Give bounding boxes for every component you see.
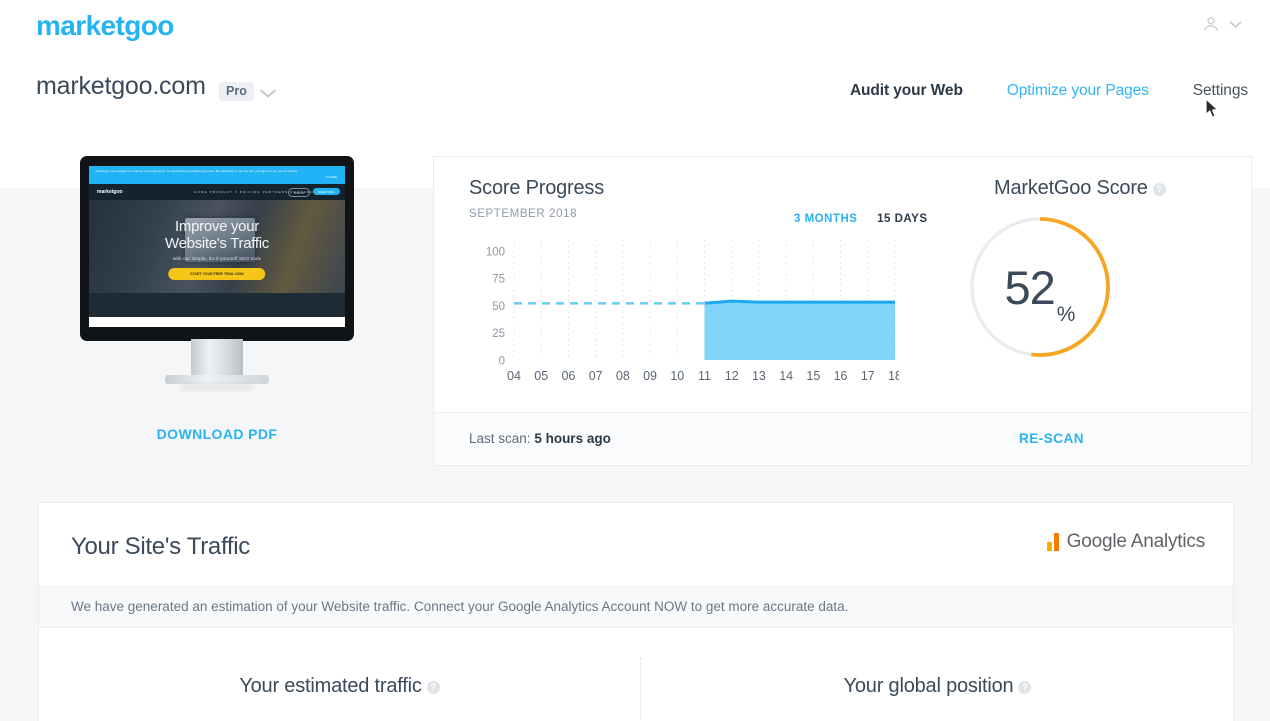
monitor-screen: marketgoo uses cookies to enhance your e…	[89, 166, 345, 327]
svg-text:13: 13	[752, 369, 766, 383]
svg-text:10: 10	[670, 369, 684, 383]
preview-cookie-bar: marketgoo uses cookies to enhance your e…	[89, 166, 345, 184]
preview-logo: marketgoo	[97, 189, 123, 195]
nav-item-optimize-your-pages[interactable]: Optimize your Pages	[1007, 82, 1149, 100]
svg-text:100: 100	[486, 246, 505, 258]
traffic-notice-text: We have generated an estimation of your …	[71, 599, 848, 614]
global-position-label: Your global position	[844, 675, 1014, 697]
mouse-pointer-icon	[1205, 98, 1220, 120]
marketgoo-score-label: MarketGoo Score	[994, 177, 1148, 199]
range-toggle: 3 MONTHS 15 DAYS	[794, 213, 928, 225]
account-menu[interactable]	[1201, 14, 1242, 34]
svg-text:09: 09	[643, 369, 657, 383]
preview-hero-button: START YOUR FREE TRIAL NOW	[168, 268, 265, 280]
last-scan-label: Last scan:	[469, 431, 531, 446]
help-icon[interactable]: ?	[1153, 183, 1166, 196]
ga-word-google: Google	[1067, 531, 1127, 552]
preview-cta: FREE TRIAL	[313, 188, 340, 195]
svg-text:06: 06	[561, 369, 575, 383]
chart-x-axis-labels: 040506070809101112131415161718	[507, 369, 899, 383]
site-traffic-title: Your Site's Traffic	[71, 533, 250, 561]
score-card: Score Progress SEPTEMBER 2018 3 MONTHS 1…	[433, 156, 1252, 466]
monitor-frame: marketgoo uses cookies to enhance your e…	[80, 156, 354, 341]
monitor-stand-neck	[191, 339, 243, 377]
google-analytics-wordmark: Google Analytics	[1067, 531, 1205, 553]
chart-y-axis-labels: 0255075100	[486, 246, 505, 367]
preview-subheadline: with our simple, do-it-yourself SEO tool…	[89, 256, 345, 261]
nav-item-settings[interactable]: Settings	[1193, 82, 1248, 100]
svg-text:18: 18	[888, 369, 899, 383]
google-analytics-bars-icon	[1047, 533, 1059, 551]
range-option-15-days[interactable]: 15 DAYS	[877, 213, 927, 225]
site-preview: marketgoo uses cookies to enhance your e…	[80, 156, 354, 384]
preview-cookie-text: marketgoo uses cookies to enhance your e…	[95, 169, 310, 173]
marketgoo-score-title: MarketGoo Score?	[994, 177, 1166, 200]
ga-word-analytics: Analytics	[1131, 531, 1205, 552]
score-card-footer: Last scan: 5 hours ago RE-SCAN	[434, 412, 1251, 465]
svg-text:75: 75	[492, 274, 505, 286]
top-bar: marketgoo	[0, 0, 1270, 52]
site-switcher-chevron-down-icon[interactable]	[259, 86, 277, 104]
chevron-down-icon	[1229, 20, 1242, 29]
last-scan-value: 5 hours ago	[534, 431, 611, 446]
site-name: marketgoo.com	[36, 72, 206, 101]
monitor-stand-base	[165, 375, 269, 384]
monitor-shadow	[182, 384, 252, 390]
nav-item-audit-your-web[interactable]: Audit your Web	[850, 82, 963, 100]
svg-text:12: 12	[725, 369, 739, 383]
estimated-traffic-title: Your estimated traffic?	[39, 675, 640, 698]
preview-screen-footer	[89, 317, 345, 327]
score-progress-period: SEPTEMBER 2018	[469, 208, 577, 220]
user-icon	[1201, 14, 1221, 34]
svg-text:08: 08	[616, 369, 630, 383]
svg-text:11: 11	[698, 369, 711, 383]
estimated-traffic-label: Your estimated traffic	[239, 675, 421, 697]
help-icon[interactable]: ?	[1018, 681, 1031, 694]
traffic-notice-banner: We have generated an estimation of your …	[39, 586, 1233, 628]
svg-text:14: 14	[779, 369, 793, 383]
svg-text:05: 05	[534, 369, 548, 383]
preview-cookie-accept: I AGREE	[325, 175, 337, 179]
svg-text:07: 07	[589, 369, 603, 383]
svg-text:25: 25	[492, 328, 505, 340]
range-option-3-months[interactable]: 3 MONTHS	[794, 213, 857, 225]
help-icon[interactable]: ?	[427, 681, 440, 694]
preview-headline: Improve your Website's Traffic	[89, 218, 345, 253]
svg-text:16: 16	[834, 369, 848, 383]
brand-logo[interactable]: marketgoo	[36, 10, 174, 42]
preview-headline-line2: Website's Traffic	[165, 235, 269, 252]
preview-hero: Improve your Website's Traffic with our …	[89, 200, 345, 293]
last-scan: Last scan: 5 hours ago	[469, 431, 611, 446]
global-position-title: Your global position?	[640, 675, 1235, 698]
score-card-body: Score Progress SEPTEMBER 2018 3 MONTHS 1…	[434, 157, 1251, 412]
plan-badge: Pro	[219, 82, 254, 101]
download-pdf-button[interactable]: DOWNLOAD PDF	[80, 426, 354, 442]
preview-headline-line1: Improve your	[175, 218, 259, 235]
score-number: 52	[1005, 260, 1055, 315]
svg-text:17: 17	[861, 369, 875, 383]
app-page: marketgoo marketgoo.com Pro Aud	[0, 0, 1270, 721]
chart-area-fill	[705, 301, 896, 360]
marketgoo-score-value: 52 %	[967, 214, 1113, 360]
site-header: marketgoo.com Pro Audit your Web Optimiz…	[0, 62, 1270, 128]
svg-text:0: 0	[499, 356, 505, 368]
re-scan-button[interactable]: RE-SCAN	[1019, 431, 1084, 446]
score-progress-chart[interactable]: 0255075100 04050607080910111213141516171…	[469, 232, 899, 392]
score-percent: %	[1057, 303, 1076, 327]
svg-text:15: 15	[806, 369, 820, 383]
preview-login: LOG IN	[288, 188, 310, 197]
google-analytics-logo: Google Analytics	[1047, 531, 1205, 553]
preview-site-nav: marketgoo HOME PRODUCT ▾ PRICING PARTNER…	[89, 184, 345, 200]
site-traffic-card: Your Site's Traffic Google Analytics We …	[38, 502, 1234, 721]
score-progress-title: Score Progress	[469, 177, 604, 200]
main-nav: Audit your Web Optimize your Pages Setti…	[806, 82, 1248, 100]
svg-text:04: 04	[507, 369, 521, 383]
svg-text:50: 50	[492, 301, 505, 313]
